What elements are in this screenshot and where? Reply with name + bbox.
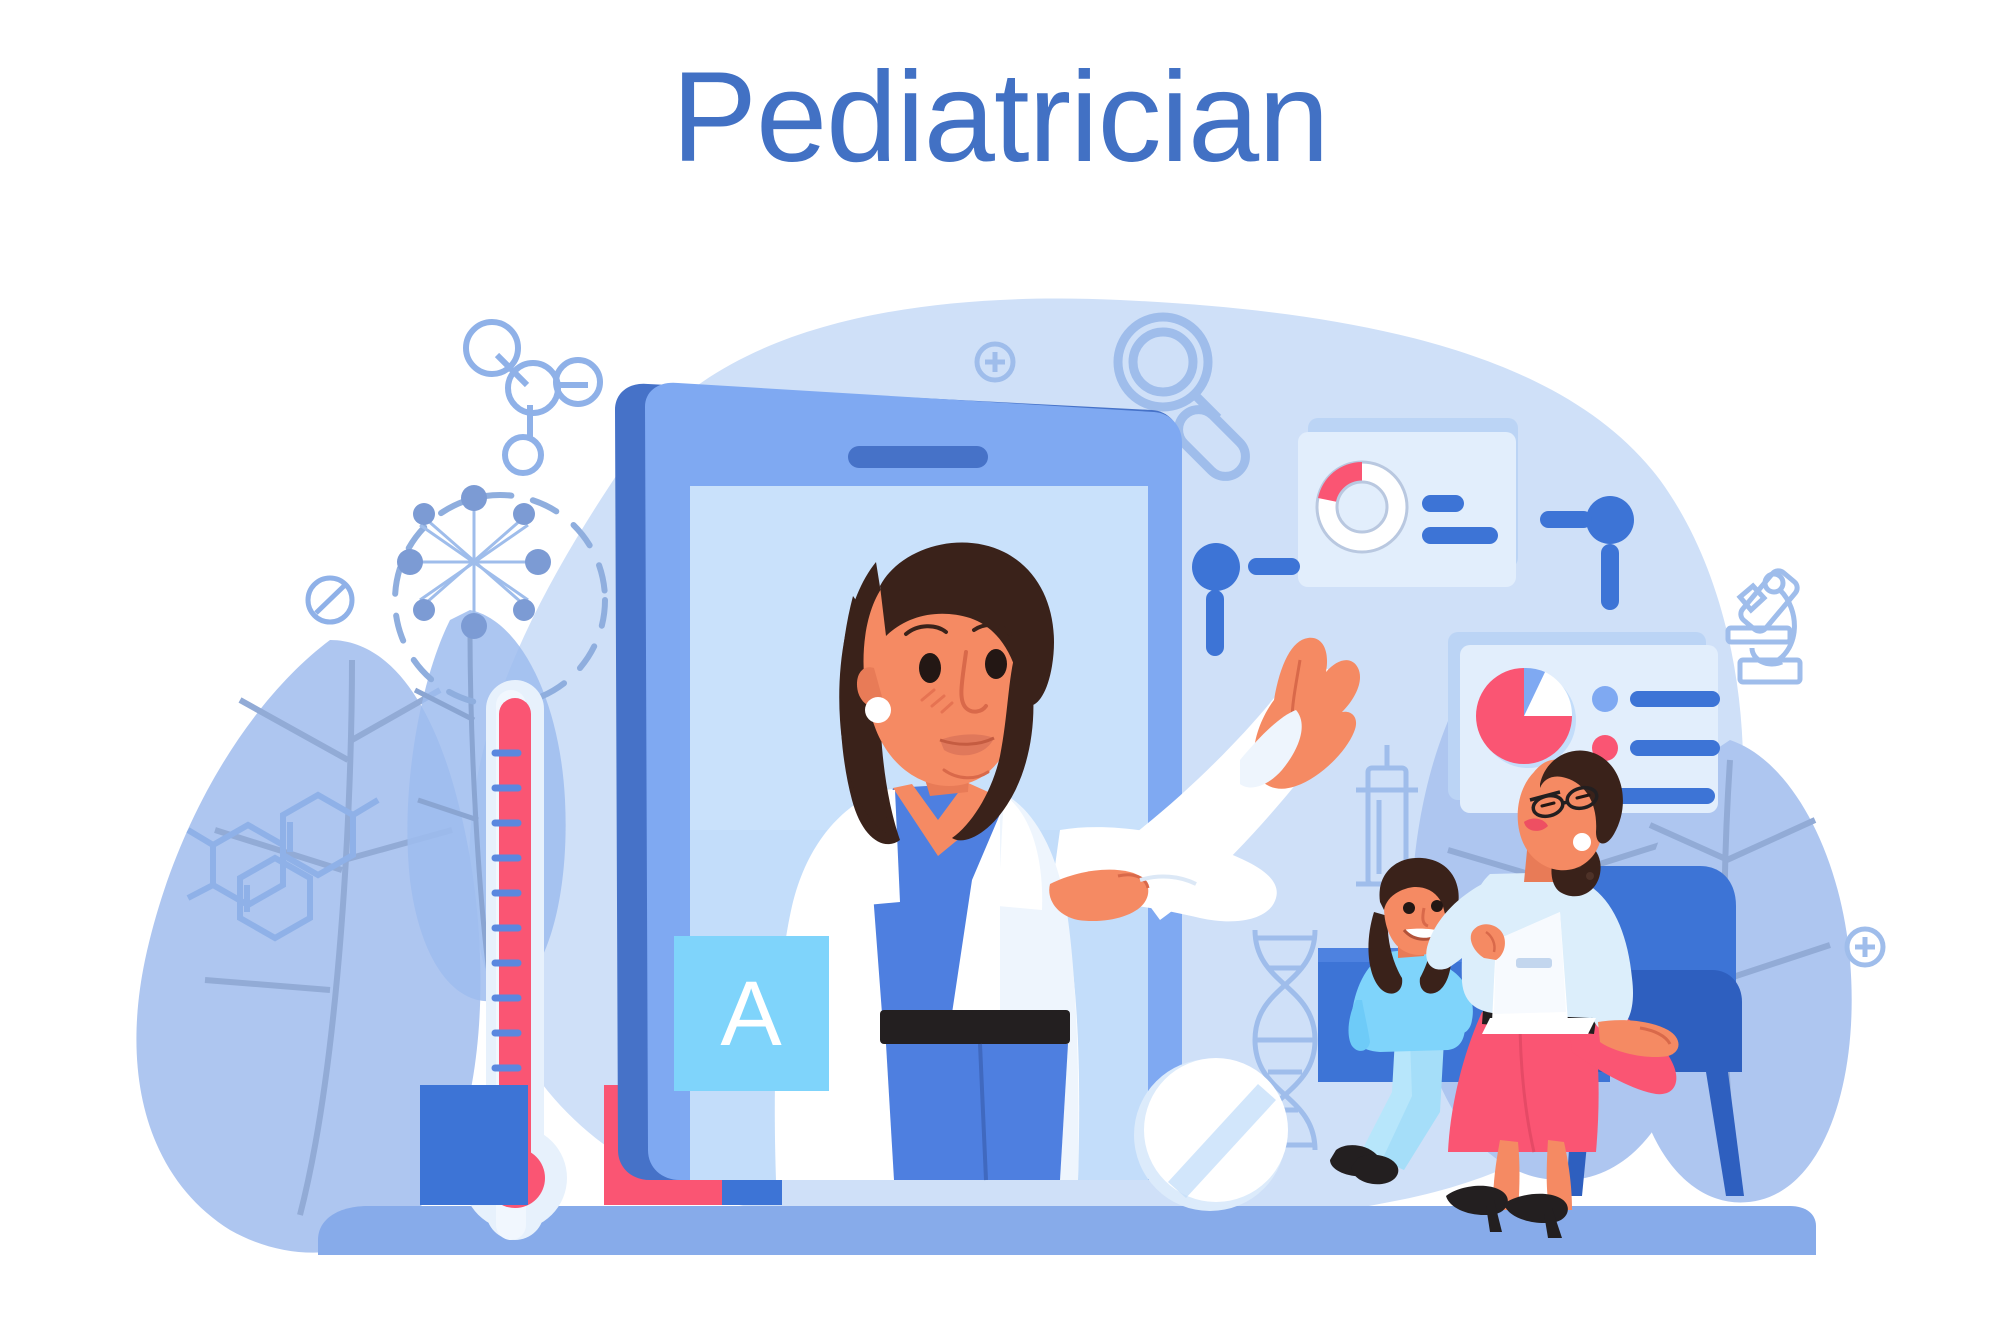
plus-circle-icon-right — [1847, 929, 1883, 965]
earring-mother — [1573, 833, 1591, 851]
legend-dot-blue — [1592, 686, 1618, 712]
donut-stats-card[interactable] — [1298, 418, 1518, 587]
molecule-icon — [466, 322, 600, 473]
earring — [865, 697, 891, 723]
illustration-scene: A — [0, 0, 2000, 1333]
atom-icon — [397, 485, 551, 639]
letter-block-text: A — [720, 963, 782, 1065]
pill-outline-icon — [308, 578, 352, 622]
illustration-canvas: Pediatrician — [0, 0, 2000, 1333]
microscope-icon — [1728, 568, 1800, 682]
letter-block: A — [674, 936, 829, 1091]
donut-chart — [1317, 462, 1407, 552]
blue-block — [420, 1085, 528, 1205]
